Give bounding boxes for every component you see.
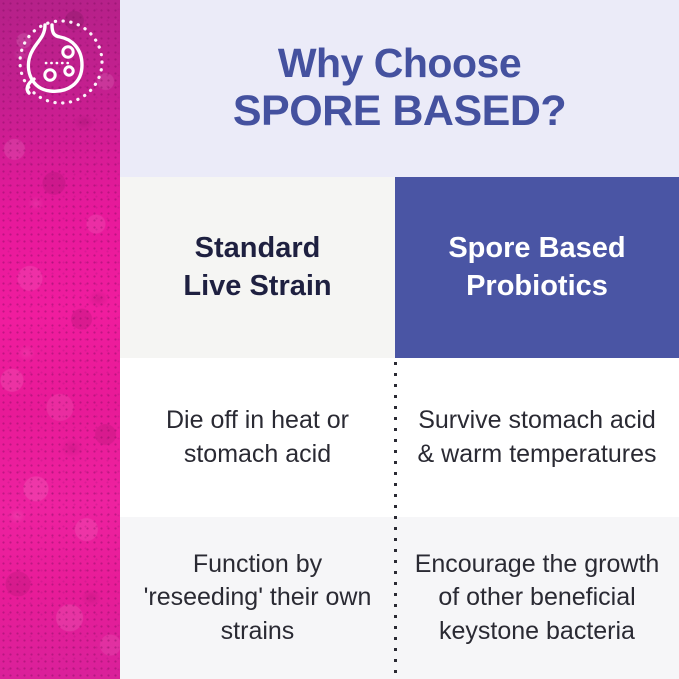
comparison-cell-standard: Function by 'reseeding' their own strain… (120, 517, 395, 679)
content-area: Why Choose SPORE BASED? Standard Live St… (120, 0, 679, 679)
column-header-spore-based: Spore Based Probiotics (395, 177, 679, 358)
stomach-icon (12, 13, 110, 111)
column-header-standard: Standard Live Strain (120, 177, 395, 358)
column-header-spore-based-line-2: Probiotics (466, 270, 608, 302)
column-header-row: Standard Live Strain Spore Based Probiot… (120, 177, 679, 358)
page-title-line-2: SPORE BASED? (233, 87, 566, 135)
column-header-standard-line-1: Standard (195, 232, 321, 264)
column-divider (394, 362, 397, 679)
header-band: Why Choose SPORE BASED? (120, 0, 679, 177)
comparison-cell-spore-based: Survive stomach acid & warm temperatures (395, 358, 679, 517)
comparison-text-standard: Die off in heat or stomach acid (134, 404, 381, 471)
comparison-cell-spore-based: Encourage the growth of other beneficial… (395, 517, 679, 679)
column-header-standard-line-2: Live Strain (183, 270, 331, 302)
comparison-text-spore-based: Encourage the growth of other beneficial… (409, 548, 665, 649)
column-header-standard-label: Standard Live Strain (183, 230, 331, 304)
comparison-text-spore-based: Survive stomach acid & warm temperatures (409, 404, 665, 471)
comparison-cell-standard: Die off in heat or stomach acid (120, 358, 395, 517)
decorative-texture-panel (0, 0, 120, 679)
infographic-root: Why Choose SPORE BASED? Standard Live St… (0, 0, 679, 679)
column-header-spore-based-label: Spore Based Probiotics (448, 230, 625, 304)
comparison-row: Function by 'reseeding' their own strain… (120, 517, 679, 679)
page-title-line-1: Why Choose (278, 41, 521, 87)
comparison-row: Die off in heat or stomach acid Survive … (120, 358, 679, 517)
comparison-text-standard: Function by 'reseeding' their own strain… (134, 548, 381, 649)
column-header-spore-based-line-1: Spore Based (448, 232, 625, 264)
